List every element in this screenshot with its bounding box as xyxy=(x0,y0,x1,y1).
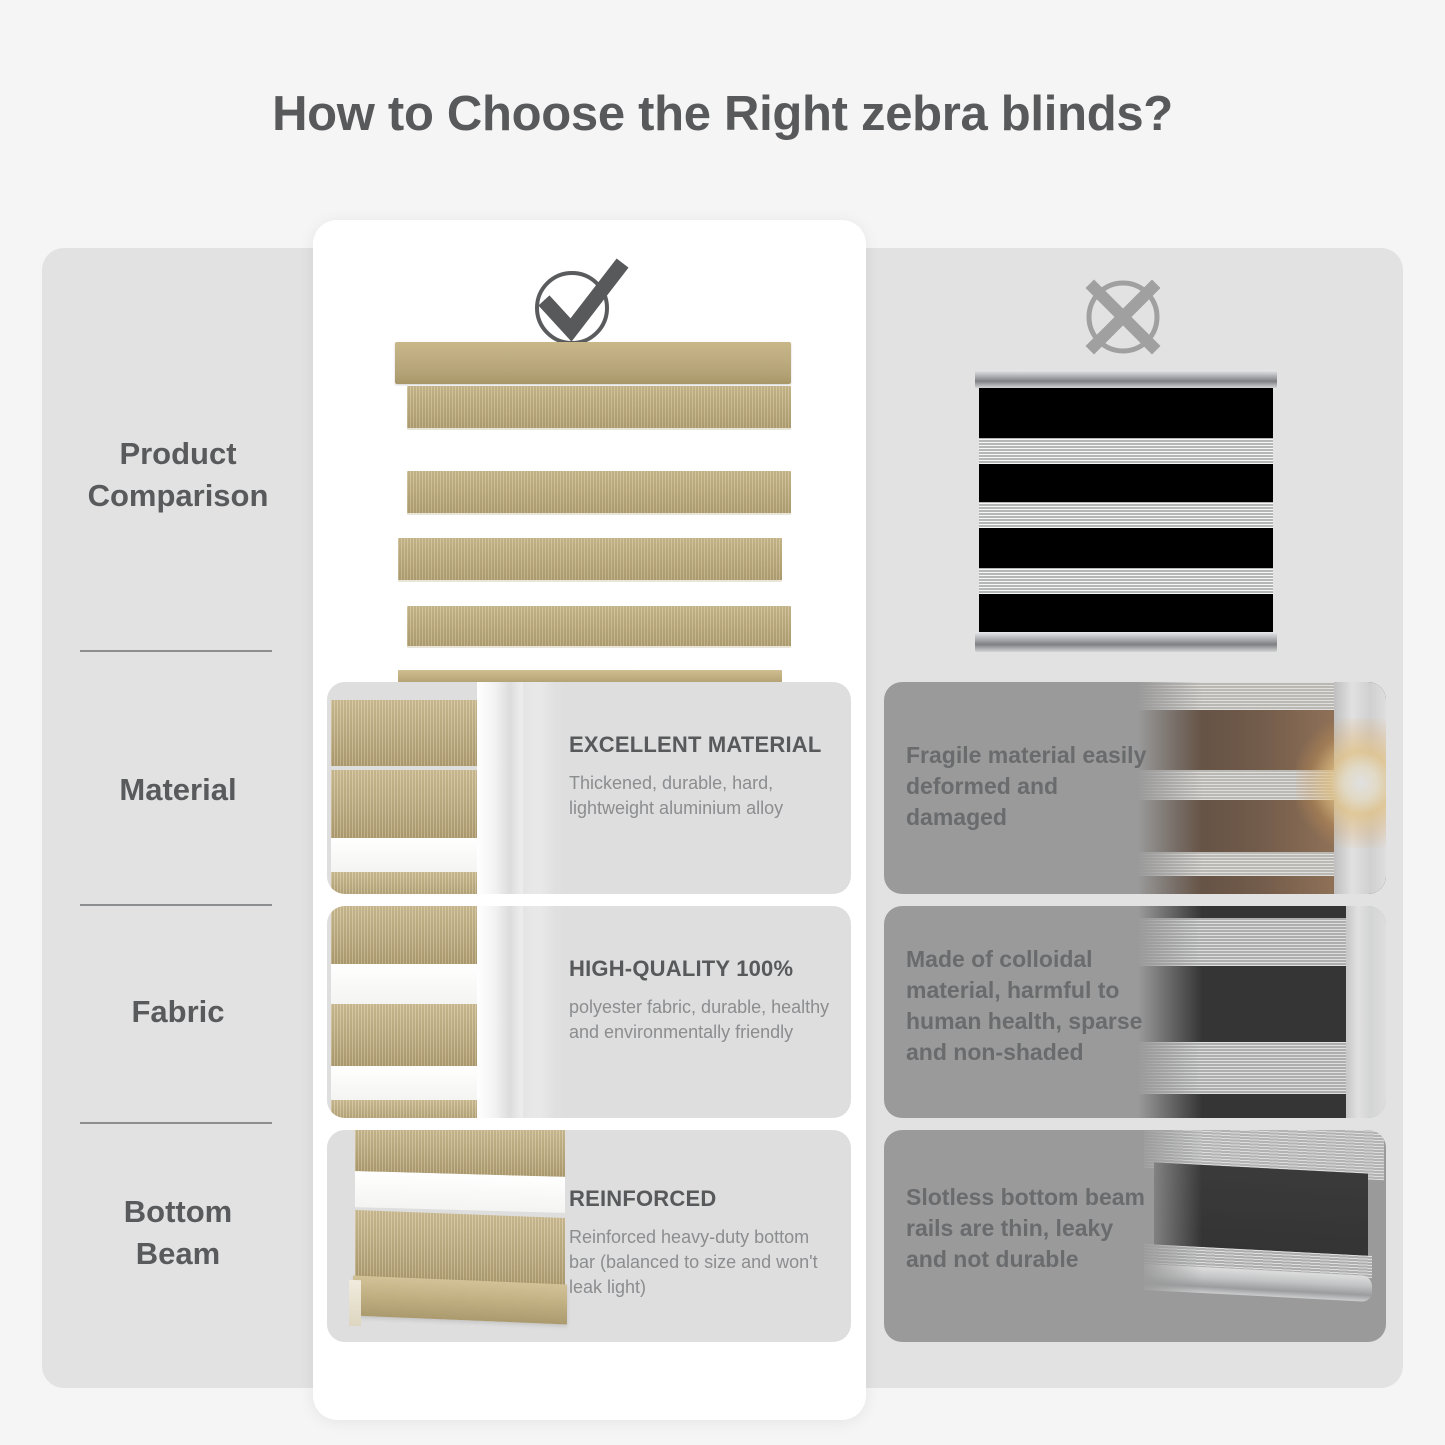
feature-body: Made of colloidal material, harmful to h… xyxy=(906,944,1156,1068)
sheer-band xyxy=(979,502,1273,528)
beam-end-cap xyxy=(349,1280,361,1327)
row-label-material: Material xyxy=(42,769,314,811)
good-feature-card-bottom-beam: REINFORCED Reinforced heavy-duty bottom … xyxy=(327,1130,851,1342)
feature-photo xyxy=(327,682,569,894)
good-feature-card-fabric: HIGH-QUALITY 100% polyester fabric, dura… xyxy=(327,906,851,1118)
photo-fade xyxy=(509,682,569,894)
sheer-band xyxy=(331,964,499,1004)
feature-photo xyxy=(1138,906,1386,1118)
row-label-line-1: Bottom xyxy=(42,1191,314,1233)
bad-feature-card-material: Fragile material easily deformed and dam… xyxy=(884,682,1386,894)
blind-slat xyxy=(331,872,499,894)
blind-slat xyxy=(398,538,782,582)
feature-title: EXCELLENT MATERIAL xyxy=(569,732,839,758)
feature-photo xyxy=(327,906,569,1118)
row-label-bottom-beam: Bottom Beam xyxy=(42,1191,314,1275)
row-label-line-1: Product xyxy=(42,433,314,475)
feature-body: polyester fabric, durable, healthy and e… xyxy=(569,995,839,1045)
feature-photo xyxy=(1138,1130,1386,1342)
bad-hero-blind-image xyxy=(975,370,1277,652)
blind-slat xyxy=(331,1100,499,1118)
bottom-rail xyxy=(975,632,1277,652)
feature-body: Reinforced heavy-duty bottom bar (balanc… xyxy=(569,1225,837,1300)
blind-body xyxy=(979,386,1273,634)
blind-slat xyxy=(355,1130,565,1177)
row-label-product-comparison: Product Comparison xyxy=(42,433,314,517)
row-label-line-1: Fabric xyxy=(42,991,314,1033)
feature-body: Thickened, durable, hard, lightweight al… xyxy=(569,771,839,821)
blind-slat xyxy=(355,1210,565,1286)
row-divider xyxy=(80,904,272,906)
page-title: How to Choose the Right zebra blinds? xyxy=(0,86,1445,142)
row-label-fabric: Fabric xyxy=(42,991,314,1033)
blind-slat xyxy=(331,1004,499,1066)
row-divider xyxy=(80,650,272,652)
feature-text: HIGH-QUALITY 100% polyester fabric, dura… xyxy=(569,956,839,1045)
bad-feature-card-bottom-beam: Slotless bottom beam rails are thin, lea… xyxy=(884,1130,1386,1342)
headrail xyxy=(395,342,791,384)
feature-photo xyxy=(1138,682,1386,894)
blind-slat xyxy=(407,471,791,515)
feature-title: HIGH-QUALITY 100% xyxy=(569,956,839,982)
feature-text: REINFORCED Reinforced heavy-duty bottom … xyxy=(569,1186,837,1300)
feature-body: Fragile material easily deformed and dam… xyxy=(906,740,1156,833)
sheer-band xyxy=(979,568,1273,594)
blind-slat xyxy=(407,386,791,430)
good-feature-card-material: EXCELLENT MATERIAL Thickened, durable, h… xyxy=(327,682,851,894)
feature-body: Slotless bottom beam rails are thin, lea… xyxy=(906,1182,1156,1275)
blind-slat xyxy=(331,770,499,838)
blind-slat xyxy=(407,606,791,648)
row-label-line-2: Beam xyxy=(42,1233,314,1275)
sheer-band xyxy=(979,438,1273,464)
feature-title: REINFORCED xyxy=(569,1186,837,1212)
window-frame xyxy=(1346,906,1386,1118)
row-label-line-2: Comparison xyxy=(42,475,314,517)
blind-slat xyxy=(331,906,499,964)
good-hero-blind-image xyxy=(395,342,791,664)
sheer-band xyxy=(355,1171,565,1213)
sun-flare xyxy=(1296,718,1386,848)
headrail xyxy=(975,370,1277,388)
bottom-beam xyxy=(353,1276,567,1325)
photo-fade xyxy=(509,906,569,1118)
bad-feature-card-fabric: Made of colloidal material, harmful to h… xyxy=(884,906,1386,1118)
row-label-line-1: Material xyxy=(42,769,314,811)
row-divider xyxy=(80,1122,272,1124)
row-label-column: Product Comparison Material Fabric Botto… xyxy=(42,248,314,1388)
feature-text: EXCELLENT MATERIAL Thickened, durable, h… xyxy=(569,732,839,821)
blind-slat xyxy=(331,700,499,766)
sheer-band xyxy=(331,838,499,872)
sheer-band xyxy=(331,1066,499,1100)
